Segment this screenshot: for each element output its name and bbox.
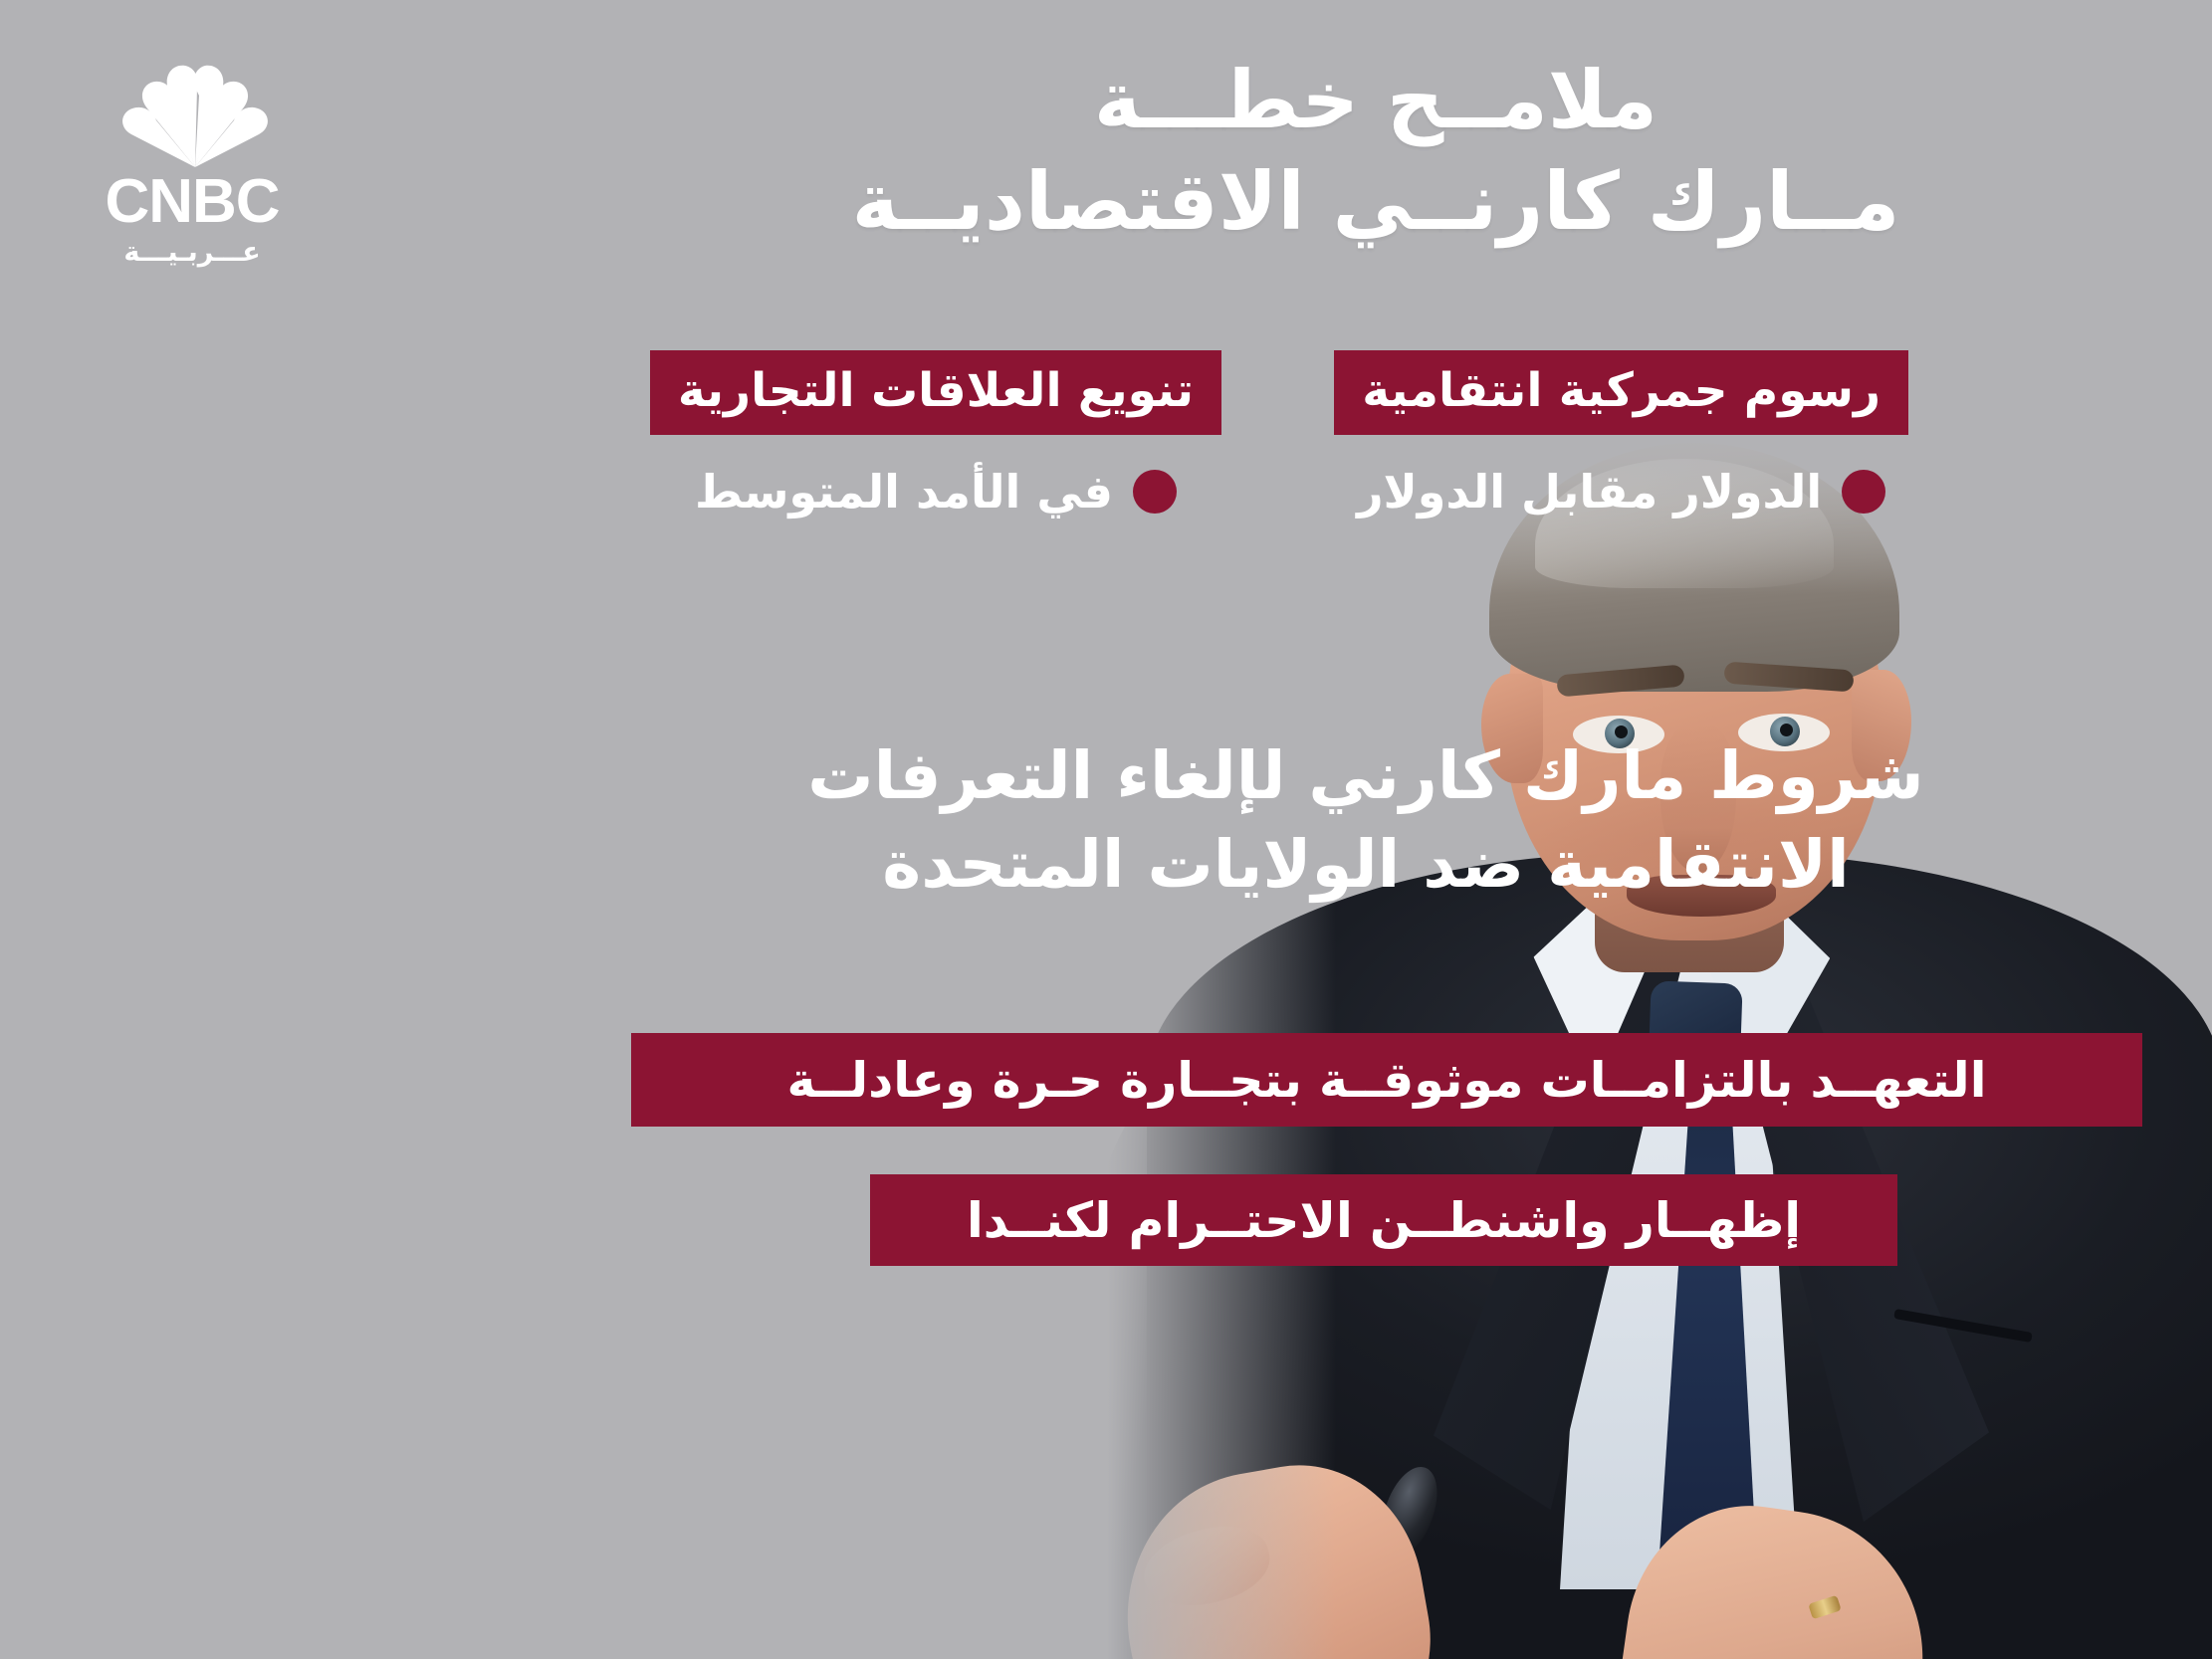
page-title: ملامــح خطـــة مــارك كارنــي الاقتصاديـ… xyxy=(629,50,2122,254)
pillar-retaliatory-tariffs: رسوم جمركية انتقامية الدولار مقابل الدول… xyxy=(1334,350,1908,518)
pillar-bullet-row: الدولار مقابل الدولار xyxy=(1334,465,1908,518)
pillar-bullet-text: الدولار مقابل الدولار xyxy=(1357,465,1822,518)
microphone-icon xyxy=(1372,1460,1448,1562)
portrait-hand-left xyxy=(1107,1446,1448,1659)
pillar-badge: رسوم جمركية انتقامية xyxy=(1334,350,1908,435)
portrait-eyebrow-right xyxy=(1723,661,1854,692)
cnbc-arabic-subtitle: عـــربـيـــة xyxy=(78,237,307,268)
section-heading-line-1: شروط مارك كارني لإلغاء التعرفات xyxy=(649,731,2083,820)
cnbc-arabia-logo[interactable]: CNBC عـــربـيـــة xyxy=(78,62,307,271)
portrait-eyebrow-left xyxy=(1556,664,1684,697)
red-dot-icon xyxy=(1133,470,1177,514)
condition-banner-free-fair-trade: التعهــد بالتزامــات موثوقــة بتجــارة ح… xyxy=(631,1033,2142,1127)
page-title-line-1: ملامــح خطـــة xyxy=(629,50,2122,151)
portrait-necktie xyxy=(1653,1062,1762,1659)
portrait-wedding-ring xyxy=(1808,1595,1841,1619)
infographic-canvas: CNBC عـــربـيـــة ملامــح خطـــة مــارك … xyxy=(0,0,2212,1659)
portrait-hand-right xyxy=(1606,1491,1941,1659)
pillar-bullet-text: في الأمد المتوسط xyxy=(695,465,1113,518)
portrait-suit-pocket xyxy=(1893,1309,2033,1343)
section-heading-line-2: الانتقامية ضد الولايات المتحدة xyxy=(649,820,2083,909)
section-heading: شروط مارك كارني لإلغاء التعرفات الانتقام… xyxy=(649,731,2083,909)
condition-banner-respect-canada: إظهــار واشنطــن الاحتــرام لكنــدا xyxy=(870,1174,1897,1266)
pillar-bullet-row: في الأمد المتوسط xyxy=(650,465,1221,518)
cnbc-wordmark: CNBC xyxy=(78,171,307,233)
portrait-thumb-left xyxy=(1136,1516,1277,1618)
microphone-stem-icon xyxy=(1279,1502,1419,1659)
pillar-trade-diversification: تنويع العلاقات التجارية في الأمد المتوسط xyxy=(650,350,1221,518)
red-dot-icon xyxy=(1842,470,1885,514)
pillar-badge: تنويع العلاقات التجارية xyxy=(650,350,1221,435)
cnbc-peacock-icon xyxy=(119,62,271,173)
page-title-line-2: مــارك كارنــي الاقتصاديــة xyxy=(629,151,2122,253)
